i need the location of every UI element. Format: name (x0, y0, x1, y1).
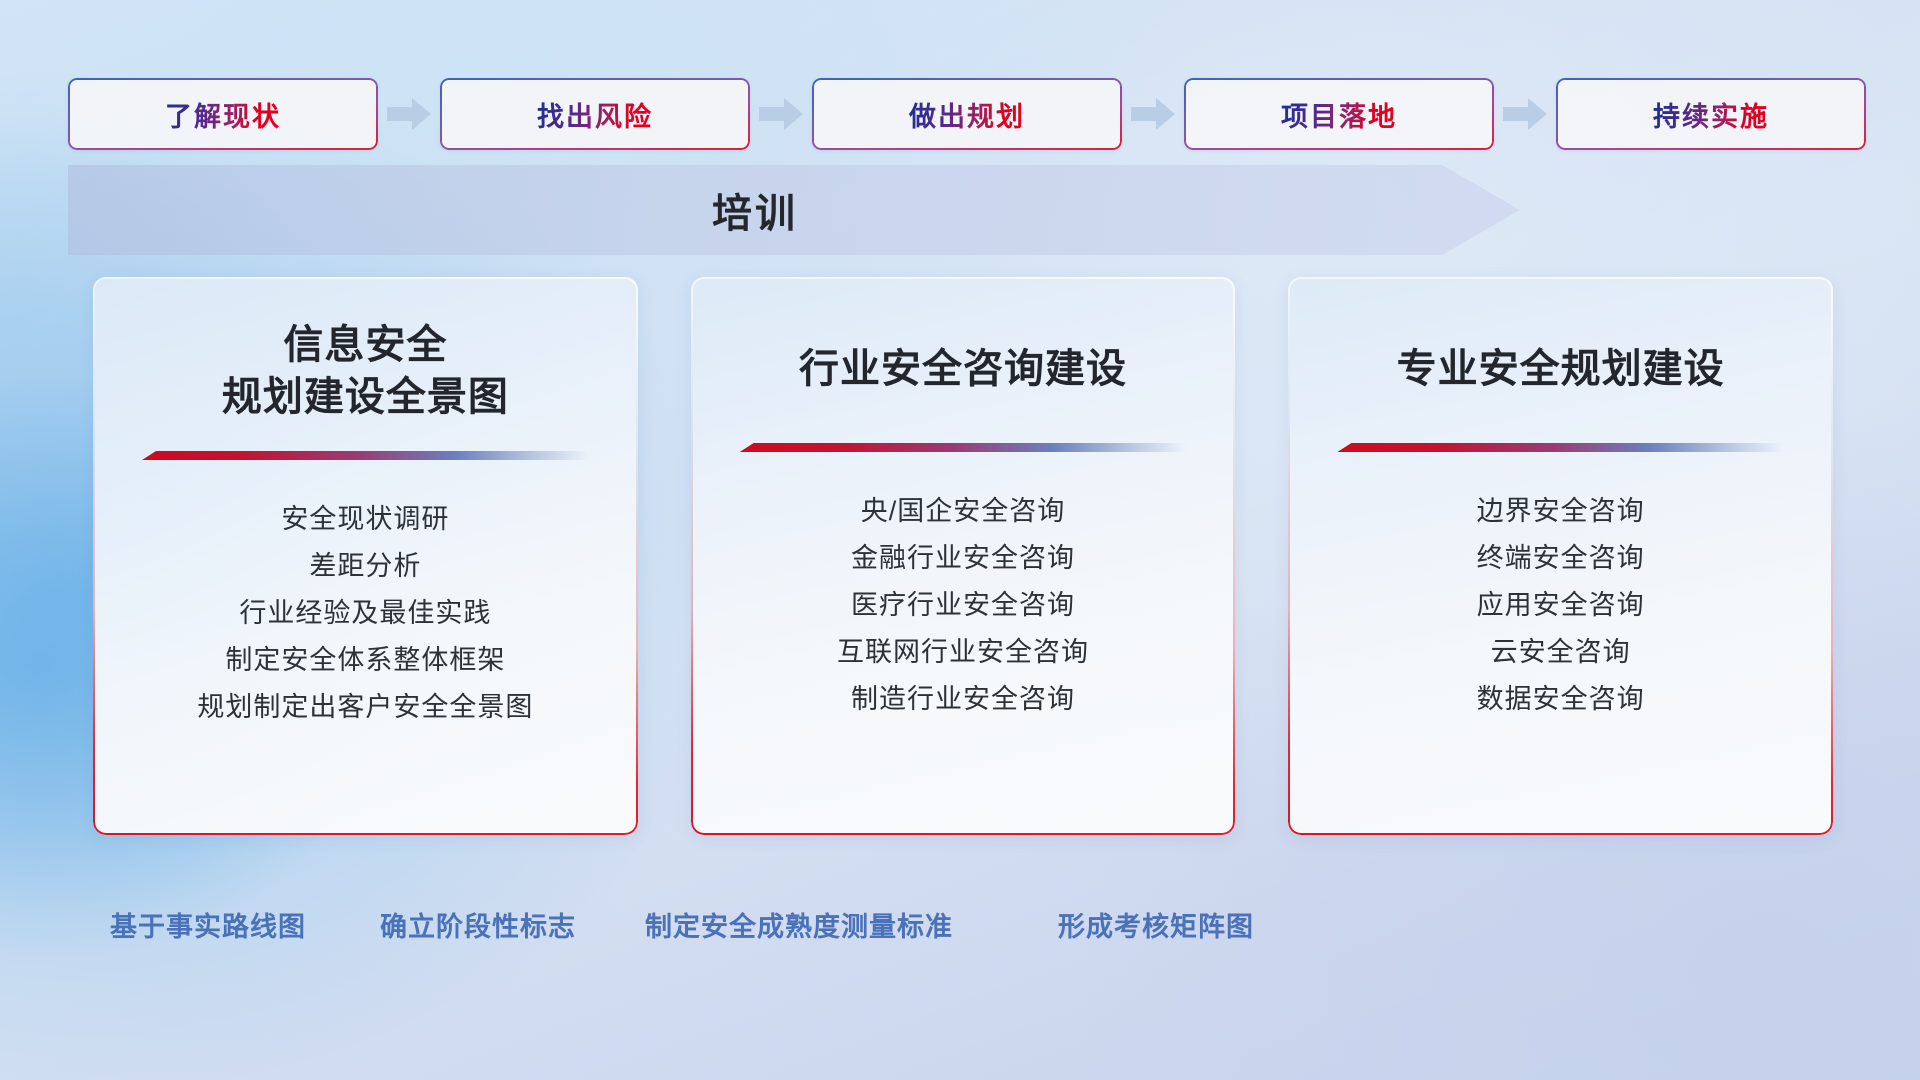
card-industry-security-consulting[interactable]: 行业安全咨询建设 央/国企安全咨询 金融行业安全咨询 医疗行业安全咨询 互联网行… (691, 277, 1236, 835)
card-item-list-1: 安全现状调研 差距分析 行业经验及最佳实践 制定安全体系整体框架 规划制定出客户… (197, 496, 533, 731)
training-banner: 培训 (68, 165, 1520, 255)
card-professional-security-planning[interactable]: 专业安全规划建设 边界安全咨询 终端安全咨询 应用安全咨询 云安全咨询 数据安全… (1288, 277, 1833, 835)
step-box-1[interactable]: 了解现状 (68, 78, 378, 150)
step-label-1: 了解现状 (165, 95, 281, 134)
footnote-2: 确立阶段性标志 (380, 905, 576, 944)
footnote-3: 制定安全成熟度测量标准 (645, 905, 953, 944)
card-divider-1 (93, 451, 638, 460)
list-item: 央/国企安全咨询 (837, 488, 1089, 535)
step-box-3[interactable]: 做出规划 (812, 78, 1122, 150)
step-label-2: 找出风险 (537, 95, 653, 134)
card-information-security-blueprint[interactable]: 信息安全 规划建设全景图 安全现状调研 差距分析 行业经验及最佳实践 制定安全体… (93, 277, 638, 835)
banner-title: 培训 (68, 165, 1520, 255)
step-label-5: 持续实施 (1653, 95, 1769, 134)
list-item: 数据安全咨询 (1477, 676, 1645, 723)
list-item: 制造行业安全咨询 (837, 676, 1089, 723)
list-item: 金融行业安全咨询 (837, 535, 1089, 582)
card-divider-3 (1288, 443, 1833, 452)
step-label-3: 做出规划 (909, 95, 1025, 134)
step-box-2[interactable]: 找出风险 (440, 78, 750, 150)
process-step-flow: 了解现状 找出风险 做出规划 项目落地 持续实施 (68, 78, 1858, 150)
card-item-list-3: 边界安全咨询 终端安全咨询 应用安全咨询 云安全咨询 数据安全咨询 (1477, 488, 1645, 723)
footnote-4: 形成考核矩阵图 (1058, 905, 1254, 944)
list-item: 安全现状调研 (197, 496, 533, 543)
list-item: 差距分析 (197, 543, 533, 590)
step-box-5[interactable]: 持续实施 (1556, 78, 1866, 150)
arrow-right-icon-4 (1494, 98, 1556, 130)
list-item: 行业经验及最佳实践 (197, 590, 533, 637)
list-item: 边界安全咨询 (1477, 488, 1645, 535)
footnote-1: 基于事实路线图 (110, 905, 306, 944)
card-divider-2 (691, 443, 1236, 452)
footnote-row: 基于事实路线图 确立阶段性标志 制定安全成熟度测量标准 形成考核矩阵图 (0, 905, 1920, 953)
list-item: 终端安全咨询 (1477, 535, 1645, 582)
list-item: 互联网行业安全咨询 (837, 629, 1089, 676)
arrow-right-icon-2 (750, 98, 812, 130)
card-item-list-2: 央/国企安全咨询 金融行业安全咨询 医疗行业安全咨询 互联网行业安全咨询 制造行… (837, 488, 1089, 723)
arrow-right-icon-3 (1122, 98, 1184, 130)
list-item: 规划制定出客户安全全景图 (197, 684, 533, 731)
card-title-2: 行业安全咨询建设 (799, 343, 1127, 395)
card-title-1: 信息安全 规划建设全景图 (222, 319, 509, 423)
list-item: 云安全咨询 (1477, 629, 1645, 676)
list-item: 应用安全咨询 (1477, 582, 1645, 629)
card-group: 信息安全 规划建设全景图 安全现状调研 差距分析 行业经验及最佳实践 制定安全体… (93, 277, 1833, 835)
arrow-right-icon-1 (378, 98, 440, 130)
list-item: 医疗行业安全咨询 (837, 582, 1089, 629)
step-label-4: 项目落地 (1281, 95, 1397, 134)
step-box-4[interactable]: 项目落地 (1184, 78, 1494, 150)
card-title-3: 专业安全规划建设 (1397, 343, 1725, 395)
list-item: 制定安全体系整体框架 (197, 637, 533, 684)
